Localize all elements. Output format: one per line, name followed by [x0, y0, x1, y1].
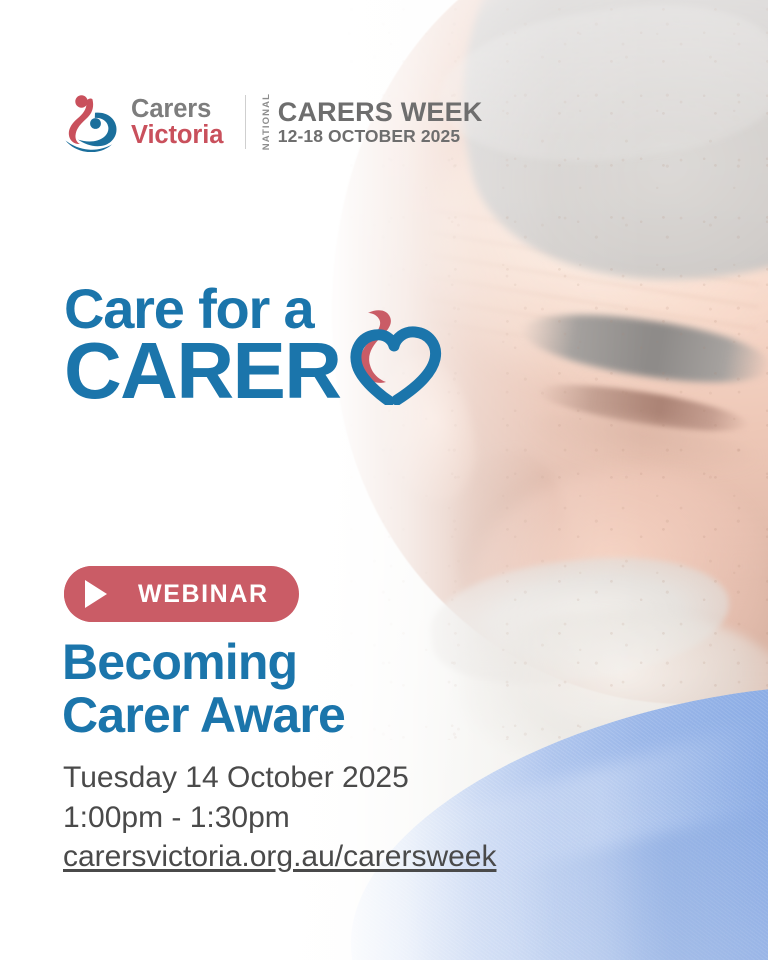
ncw-title: CARERS WEEK — [278, 98, 483, 126]
ncw-dates: 12-18 OCTOBER 2025 — [278, 127, 483, 145]
event-title: Becoming Carer Aware — [62, 636, 532, 742]
poster-content: Carers Victoria NATIONAL CARERS WEEK 12-… — [0, 0, 768, 960]
national-carers-week-lockup: NATIONAL CARERS WEEK 12-18 OCTOBER 2025 — [262, 93, 482, 150]
campaign-hero-lockup: Care for a CARER — [64, 282, 464, 408]
logo-word-victoria: Victoria — [131, 122, 223, 148]
webinar-badge-label: WEBINAR — [138, 580, 269, 609]
event-date: Tuesday 14 October 2025 — [63, 758, 583, 798]
event-time: 1:00pm - 1:30pm — [63, 798, 583, 838]
header-logo-lockup: Carers Victoria NATIONAL CARERS WEEK 12-… — [64, 92, 483, 152]
webinar-badge: WEBINAR — [64, 566, 299, 622]
ncw-text-block: CARERS WEEK 12-18 OCTOBER 2025 — [278, 98, 483, 145]
two-tone-heart-icon — [334, 297, 446, 405]
event-url-link[interactable]: carersvictoria.org.au/carersweek — [63, 837, 583, 877]
poster-canvas: Carers Victoria NATIONAL CARERS WEEK 12-… — [0, 0, 768, 960]
logo-word-carers: Carers — [131, 96, 223, 122]
hero-bottom-row: CARER — [64, 333, 464, 408]
event-title-line2: Carer Aware — [62, 689, 532, 742]
play-icon — [64, 566, 120, 622]
header-divider — [245, 95, 246, 149]
carers-victoria-logo: Carers Victoria — [64, 92, 223, 152]
event-title-line1: Becoming — [62, 636, 532, 689]
carers-victoria-wordmark: Carers Victoria — [131, 96, 223, 148]
carers-victoria-figures-mark — [64, 92, 122, 152]
ncw-national-label: NATIONAL — [262, 93, 272, 150]
event-details: Tuesday 14 October 2025 1:00pm - 1:30pm … — [63, 758, 583, 877]
hero-line-carer: CARER — [64, 333, 340, 408]
